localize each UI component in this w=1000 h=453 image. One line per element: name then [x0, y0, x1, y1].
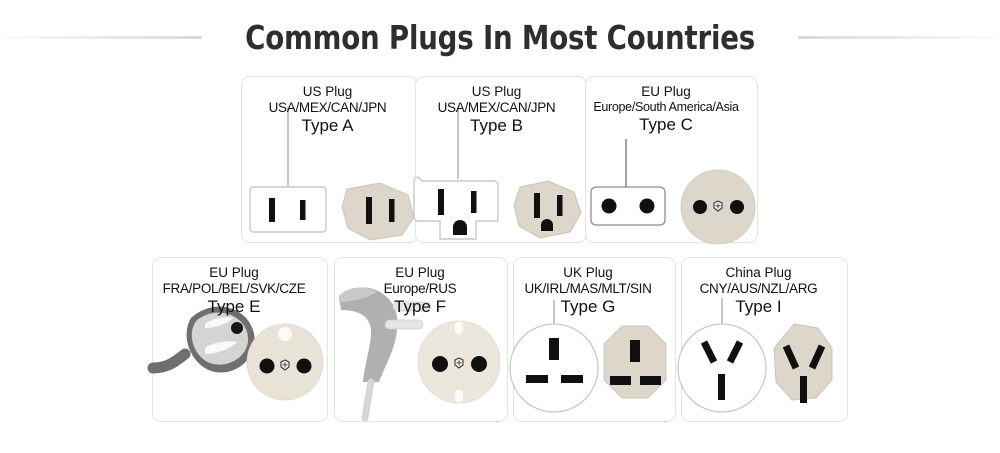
type-b-labels: US Plug USA/MEX/CAN/JPN Type B: [414, 84, 579, 136]
type-c-countries: Europe/South America/Asia: [582, 100, 750, 115]
type-a-plug-name: US Plug: [245, 84, 410, 100]
type-g-type-label: Type G: [508, 297, 668, 317]
type-e-plug-name: EU Plug: [148, 265, 320, 281]
card-type-b[interactable]: US Plug USA/MEX/CAN/JPN Type B: [415, 76, 587, 243]
type-c-plug-name: EU Plug: [582, 84, 750, 100]
page-title: Common Plugs In Most Countries: [245, 18, 755, 57]
type-e-labels: EU Plug FRA/POL/BEL/SVK/CZE Type E: [148, 265, 320, 317]
type-a-type-label: Type A: [245, 116, 410, 136]
type-c-type-label: Type C: [582, 115, 750, 135]
plug-types-infographic: Common Plugs In Most Countries US Plug U…: [0, 0, 1000, 453]
card-type-f[interactable]: EU Plug Europe/RUS Type F: [334, 257, 508, 422]
type-i-countries: CNY/AUS/NZL/ARG: [677, 281, 840, 297]
card-type-e[interactable]: EU Plug FRA/POL/BEL/SVK/CZE Type E: [152, 257, 328, 422]
type-i-labels: China Plug CNY/AUS/NZL/ARG Type I: [677, 265, 840, 317]
type-c-labels: EU Plug Europe/South America/Asia Type C: [582, 84, 750, 135]
type-a-labels: US Plug USA/MEX/CAN/JPN Type A: [245, 84, 410, 136]
type-e-countries: FRA/POL/BEL/SVK/CZE: [148, 281, 320, 297]
type-i-plug-name: China Plug: [677, 265, 840, 281]
card-type-a[interactable]: US Plug USA/MEX/CAN/JPN Type A: [241, 76, 418, 243]
type-f-countries: Europe/RUS: [340, 281, 500, 297]
card-type-i[interactable]: China Plug CNY/AUS/NZL/ARG Type I: [681, 257, 848, 422]
type-f-type-label: Type F: [340, 297, 500, 317]
type-g-countries: UK/IRL/MAS/MLT/SIN: [508, 281, 668, 297]
type-g-labels: UK Plug UK/IRL/MAS/MLT/SIN Type G: [508, 265, 668, 317]
type-b-plug-name: US Plug: [414, 84, 579, 100]
title-rule-right: [798, 36, 1000, 39]
type-f-plug-name: EU Plug: [340, 265, 500, 281]
type-g-plug-name: UK Plug: [508, 265, 668, 281]
type-a-countries: USA/MEX/CAN/JPN: [245, 100, 410, 116]
type-b-type-label: Type B: [414, 116, 579, 136]
card-type-c[interactable]: EU Plug Europe/South America/Asia Type C: [585, 76, 758, 243]
card-type-g[interactable]: UK Plug UK/IRL/MAS/MLT/SIN Type G: [513, 257, 676, 422]
type-i-type-label: Type I: [677, 297, 840, 317]
title-rule-left: [0, 36, 202, 39]
type-f-labels: EU Plug Europe/RUS Type F: [340, 265, 500, 317]
header: Common Plugs In Most Countries: [0, 14, 1000, 60]
type-e-type-label: Type E: [148, 297, 320, 317]
type-b-countries: USA/MEX/CAN/JPN: [414, 100, 579, 116]
